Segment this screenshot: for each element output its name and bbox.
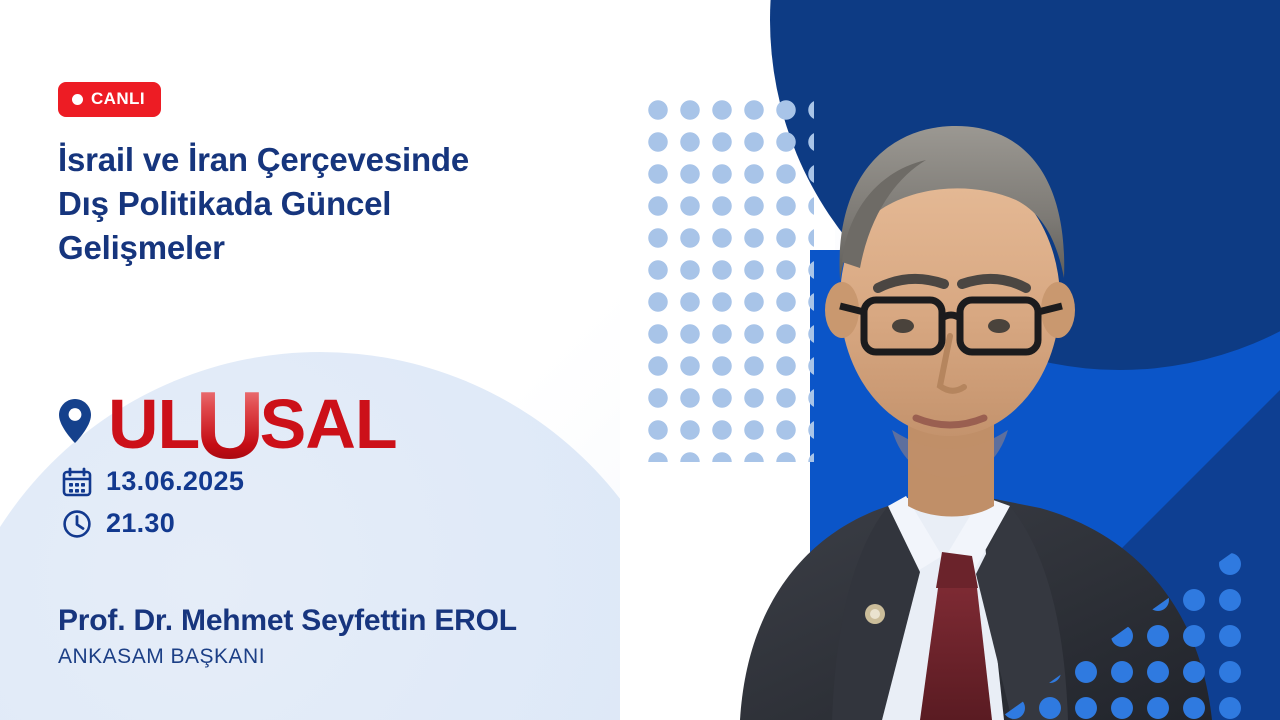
channel-logo: UL U SAL — [108, 368, 397, 464]
logo-part-2: U — [195, 378, 263, 474]
event-date-value: 13.06.2025 — [106, 466, 244, 497]
speaker-title: ANKASAM BAŞKANI — [58, 645, 517, 669]
live-badge-label: CANLI — [91, 89, 145, 109]
speaker-block: Prof. Dr. Mehmet Seyfettin EROL ANKASAM … — [58, 604, 517, 669]
content-column: CANLI İsrail ve İran Çerçevesinde Dış Po… — [58, 0, 638, 720]
promo-banner: CANLI İsrail ve İran Çerçevesinde Dış Po… — [0, 0, 1280, 720]
clock-icon — [62, 509, 92, 539]
live-dot-icon — [72, 94, 83, 105]
event-time-row: 21.30 — [62, 508, 244, 539]
event-meta: 13.06.2025 21.30 — [62, 466, 244, 550]
speaker-name: Prof. Dr. Mehmet Seyfettin EROL — [58, 604, 517, 638]
headline-line-3: Gelişmeler — [58, 226, 638, 270]
page-title: İsrail ve İran Çerçevesinde Dış Politika… — [58, 138, 638, 270]
live-badge: CANLI — [58, 82, 161, 117]
headline-line-2: Dış Politikada Güncel — [58, 182, 638, 226]
channel-logo-row: UL U SAL — [58, 368, 397, 464]
event-time-value: 21.30 — [106, 508, 175, 539]
logo-part-3: SAL — [260, 389, 397, 459]
logo-part-1: UL — [108, 389, 199, 459]
calendar-icon — [62, 467, 92, 497]
location-pin-icon — [58, 398, 92, 444]
headline-line-1: İsrail ve İran Çerçevesinde — [58, 138, 638, 182]
event-date-row: 13.06.2025 — [62, 466, 244, 497]
dot-grid-left-decoration — [638, 90, 814, 462]
